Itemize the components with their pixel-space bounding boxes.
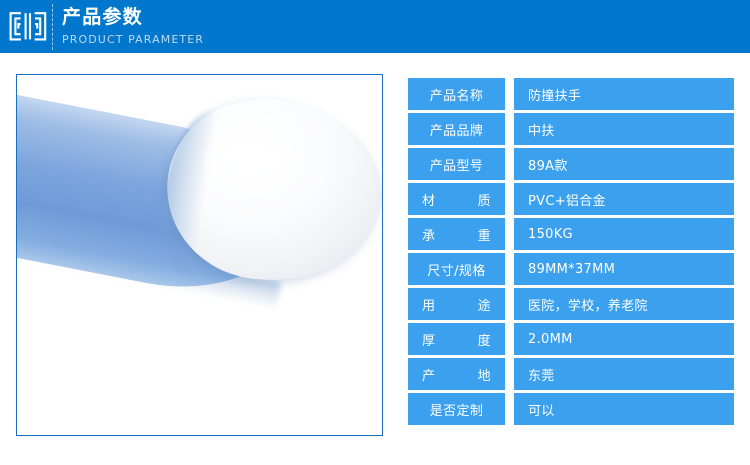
spec-cell-gap bbox=[505, 393, 514, 425]
spec-label-cell: 产地 bbox=[408, 358, 505, 390]
spec-label-text: 地 bbox=[478, 365, 491, 384]
spec-label-text: 质 bbox=[478, 190, 491, 209]
spec-label-cell: 产品品牌 bbox=[408, 113, 505, 145]
spec-label-text: 产 bbox=[422, 365, 435, 384]
spec-cell-gap bbox=[505, 148, 514, 180]
spec-row: 产品品牌中扶 bbox=[408, 113, 734, 145]
spec-value-cell: 89MM*37MM bbox=[514, 253, 734, 285]
dashed-vertical-divider-icon bbox=[52, 4, 53, 50]
spec-label-text: 途 bbox=[478, 295, 491, 314]
header-text-block: 产品参数 PRODUCT PARAMETER bbox=[62, 6, 662, 47]
spec-row: 产地东莞 bbox=[408, 358, 734, 390]
page-subtitle: PRODUCT PARAMETER bbox=[62, 32, 662, 47]
spec-cell-gap bbox=[505, 253, 514, 285]
spec-label-cell: 用途 bbox=[408, 288, 505, 320]
spec-row: 尺寸/规格89MM*37MM bbox=[408, 253, 734, 285]
spec-value-cell: 医院，学校，养老院 bbox=[514, 288, 734, 320]
spec-value-cell: 东莞 bbox=[514, 358, 734, 390]
spec-value-cell: 防撞扶手 bbox=[514, 78, 734, 110]
product-image-frame bbox=[16, 74, 383, 436]
spec-label-cell: 产品型号 bbox=[408, 148, 505, 180]
spec-row: 是否定制可以 bbox=[408, 393, 734, 425]
spec-value-cell: 2.0MM bbox=[514, 323, 734, 355]
spec-value-cell: 可以 bbox=[514, 393, 734, 425]
spec-value-cell: 中扶 bbox=[514, 113, 734, 145]
eia-monogram-logo-icon bbox=[9, 12, 47, 41]
spec-label-text: 厚 bbox=[422, 330, 435, 349]
spec-cell-gap bbox=[505, 218, 514, 250]
spec-row: 产品型号89A款 bbox=[408, 148, 734, 180]
spec-label-text: 承 bbox=[422, 225, 435, 244]
spec-row: 用途医院，学校，养老院 bbox=[408, 288, 734, 320]
spec-label-cell: 尺寸/规格 bbox=[408, 253, 505, 285]
spec-row: 承重150KG bbox=[408, 218, 734, 250]
page-title: 产品参数 bbox=[62, 6, 662, 29]
spec-label-text: 度 bbox=[478, 330, 491, 349]
spec-cell-gap bbox=[505, 323, 514, 355]
spec-label-cell: 厚度 bbox=[408, 323, 505, 355]
spec-label-text: 材 bbox=[422, 190, 435, 209]
spec-label-text: 用 bbox=[422, 295, 435, 314]
spec-label-cell: 材质 bbox=[408, 183, 505, 215]
spec-row: 材质PVC+铝合金 bbox=[408, 183, 734, 215]
spec-cell-gap bbox=[505, 113, 514, 145]
spec-row: 厚度2.0MM bbox=[408, 323, 734, 355]
spec-row: 产品名称防撞扶手 bbox=[408, 78, 734, 110]
spec-cell-gap bbox=[505, 78, 514, 110]
page-header: 产品参数 PRODUCT PARAMETER bbox=[0, 0, 750, 53]
spec-label-text: 重 bbox=[478, 225, 491, 244]
spec-label-cell: 产品名称 bbox=[408, 78, 505, 110]
spec-cell-gap bbox=[505, 183, 514, 215]
spec-value-cell: PVC+铝合金 bbox=[514, 183, 734, 215]
spec-label-cell: 承重 bbox=[408, 218, 505, 250]
spec-value-cell: 150KG bbox=[514, 218, 734, 250]
product-spec-table: 产品名称防撞扶手产品品牌中扶产品型号89A款材质PVC+铝合金承重150KG尺寸… bbox=[408, 78, 734, 425]
product-photo bbox=[17, 75, 382, 435]
spec-value-cell: 89A款 bbox=[514, 148, 734, 180]
spec-cell-gap bbox=[505, 358, 514, 390]
spec-label-cell: 是否定制 bbox=[408, 393, 505, 425]
spec-cell-gap bbox=[505, 288, 514, 320]
